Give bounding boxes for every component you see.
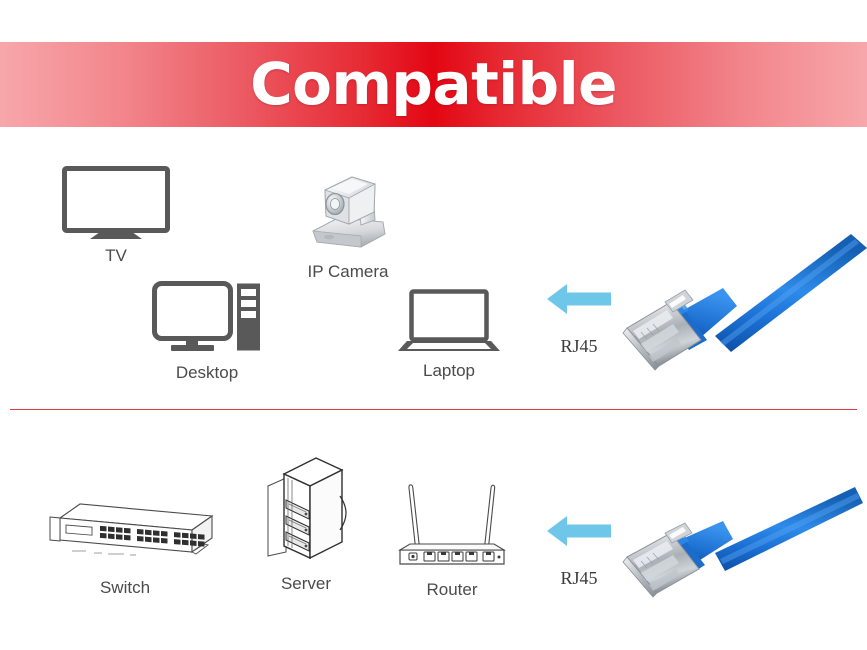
device-label-server: Server — [243, 574, 369, 594]
device-desktop: Desktop — [152, 281, 262, 357]
server-rack-icon — [264, 456, 348, 562]
laptop-icon — [397, 289, 501, 353]
ethernet-cable-icon-bottom — [619, 481, 867, 606]
router-icon — [396, 466, 508, 566]
connector-label-rj45-bottom: RJ45 — [543, 568, 615, 589]
device-label-tv: TV — [54, 246, 178, 266]
device-label-ip-camera: IP Camera — [279, 262, 417, 282]
device-switch: Switch — [42, 496, 214, 564]
network-switch-icon — [42, 496, 214, 564]
header-banner: Compatible — [0, 42, 867, 127]
device-router: Router — [396, 466, 508, 566]
device-laptop: Laptop — [397, 289, 501, 353]
ip-camera-icon — [305, 168, 391, 252]
connector-label-rj45-top: RJ45 — [543, 336, 615, 357]
arrow-left-icon — [545, 281, 613, 317]
page-title: Compatible — [0, 42, 867, 127]
connector-group-bottom: RJ45 — [545, 513, 613, 549]
ethernet-cable-icon-top — [619, 232, 867, 372]
device-label-desktop: Desktop — [142, 363, 272, 383]
tv-icon — [62, 166, 170, 240]
arrow-left-icon — [545, 513, 613, 549]
device-label-laptop: Laptop — [385, 361, 513, 381]
connector-group-top: RJ45 — [545, 281, 613, 317]
device-label-switch: Switch — [60, 578, 190, 598]
device-server: Server — [264, 456, 348, 562]
device-label-router: Router — [388, 580, 516, 600]
section-divider — [10, 409, 857, 410]
infographic-canvas: Compatible TV — [0, 0, 867, 650]
device-tv: TV — [62, 166, 170, 240]
device-ip-camera: IP Camera — [305, 168, 391, 252]
desktop-icon — [152, 281, 262, 357]
